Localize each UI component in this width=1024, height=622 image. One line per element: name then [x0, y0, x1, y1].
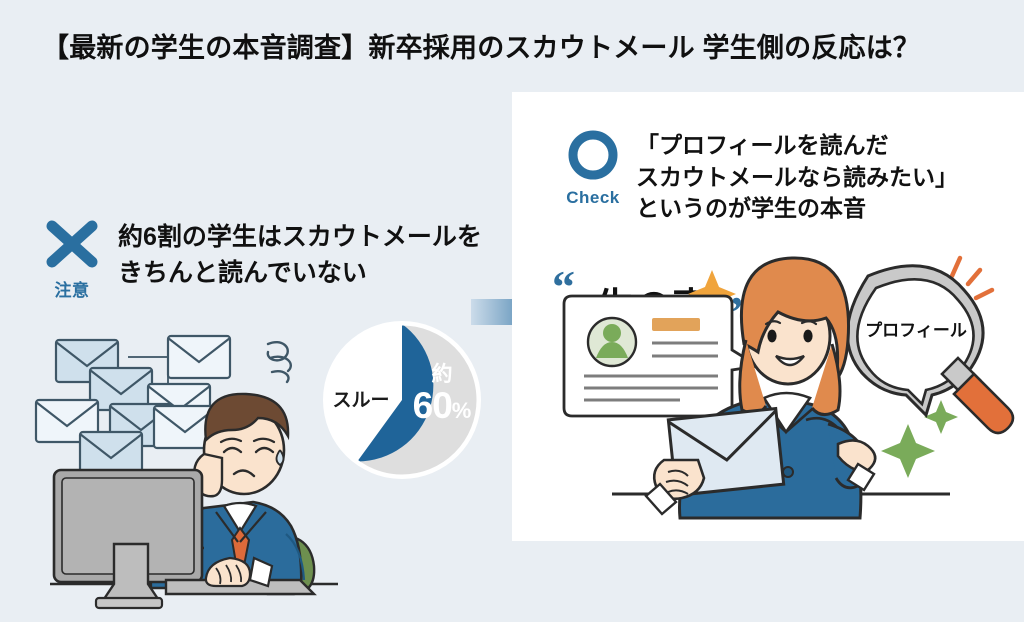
- pie-slice-label-through: スルー: [328, 385, 394, 412]
- warning-badge: 注意: [40, 218, 104, 301]
- pie-slice-label-percent: 約 60%: [404, 364, 480, 424]
- check-badge: Check: [556, 128, 630, 208]
- warning-badge-label: 注意: [40, 276, 104, 301]
- left-lead-line-1: 約6割の学生はスカウトメールを: [118, 220, 482, 256]
- pie-percent-number: 60: [413, 385, 452, 426]
- female-student-illustration: プロフィール: [560, 248, 1020, 538]
- tired-student-illustration: [18, 322, 338, 622]
- right-lead-line-2: スカウトメールなら読みたい」: [636, 162, 958, 194]
- check-badge-label: Check: [556, 188, 630, 208]
- infographic-root: 【最新の学生の本音調査】新卒採用のスカウトメール 学生側の反応は？ 注意 約6割…: [0, 0, 1024, 541]
- right-lead-copy: 「プロフィールを読んだ スカウトメールなら読みたい」 というのが学生の本音: [636, 130, 958, 225]
- page-title: 【最新の学生の本音調査】新卒採用のスカウトメール 学生側の反応は？: [42, 26, 920, 65]
- left-lead-line-2: きちんと読んでいない: [118, 256, 482, 292]
- x-mark-icon: [43, 218, 101, 270]
- left-lead-copy: 約6割の学生はスカウトメールを きちんと読んでいない: [118, 220, 482, 291]
- pie-percent-unit: %: [452, 398, 472, 423]
- right-lead-line-1: 「プロフィールを読んだ: [636, 130, 958, 162]
- magnifier-label: プロフィール: [865, 320, 967, 340]
- circle-outline-icon: [566, 128, 620, 182]
- profile-card-icon: [564, 296, 758, 416]
- right-lead-line-3: というのが学生の本音: [636, 193, 958, 225]
- sparkle-green-icon: [881, 424, 935, 478]
- header-bar: 【最新の学生の本音調査】新卒採用のスカウトメール 学生側の反応は？: [0, 0, 1024, 92]
- pie-percent-prefix: 約: [404, 364, 480, 385]
- left-panel: 注意 約6割の学生はスカウトメールを きちんと読んでいない: [0, 92, 512, 541]
